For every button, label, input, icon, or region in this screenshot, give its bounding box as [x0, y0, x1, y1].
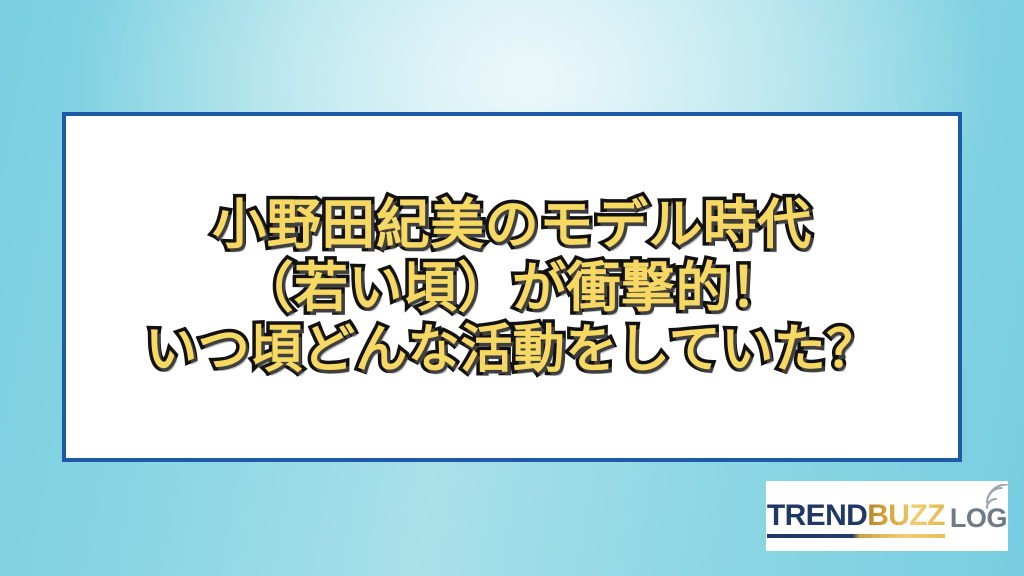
thumbnail-canvas: 小野田紀美のモデル時代 （若い頃）が衝撃的！ いつ頃どんな活動をしていた？ TR… [0, 0, 1024, 576]
wifi-signal-icon [981, 484, 1011, 510]
headline-line-3: いつ頃どんな活動をしていた？ [66, 320, 958, 381]
logo-underline-bar [767, 534, 945, 538]
logo-wordmark: TRENDBUZZ [767, 501, 945, 531]
brand-logo-badge[interactable]: TRENDBUZZ LOG [766, 481, 1008, 551]
logo-text-trend: TREND [767, 499, 867, 532]
logo-text-buzz: BUZZ [867, 499, 945, 532]
logo-lockup: TRENDBUZZ LOG [765, 501, 1009, 531]
headline-card: 小野田紀美のモデル時代 （若い頃）が衝撃的！ いつ頃どんな活動をしていた？ [62, 112, 962, 462]
headline-line-1: 小野田紀美のモデル時代 [66, 193, 958, 257]
headline-line-2: （若い頃）が衝撃的！ [66, 256, 958, 320]
headline-text: 小野田紀美のモデル時代 （若い頃）が衝撃的！ いつ頃どんな活動をしていた？ [66, 193, 958, 382]
